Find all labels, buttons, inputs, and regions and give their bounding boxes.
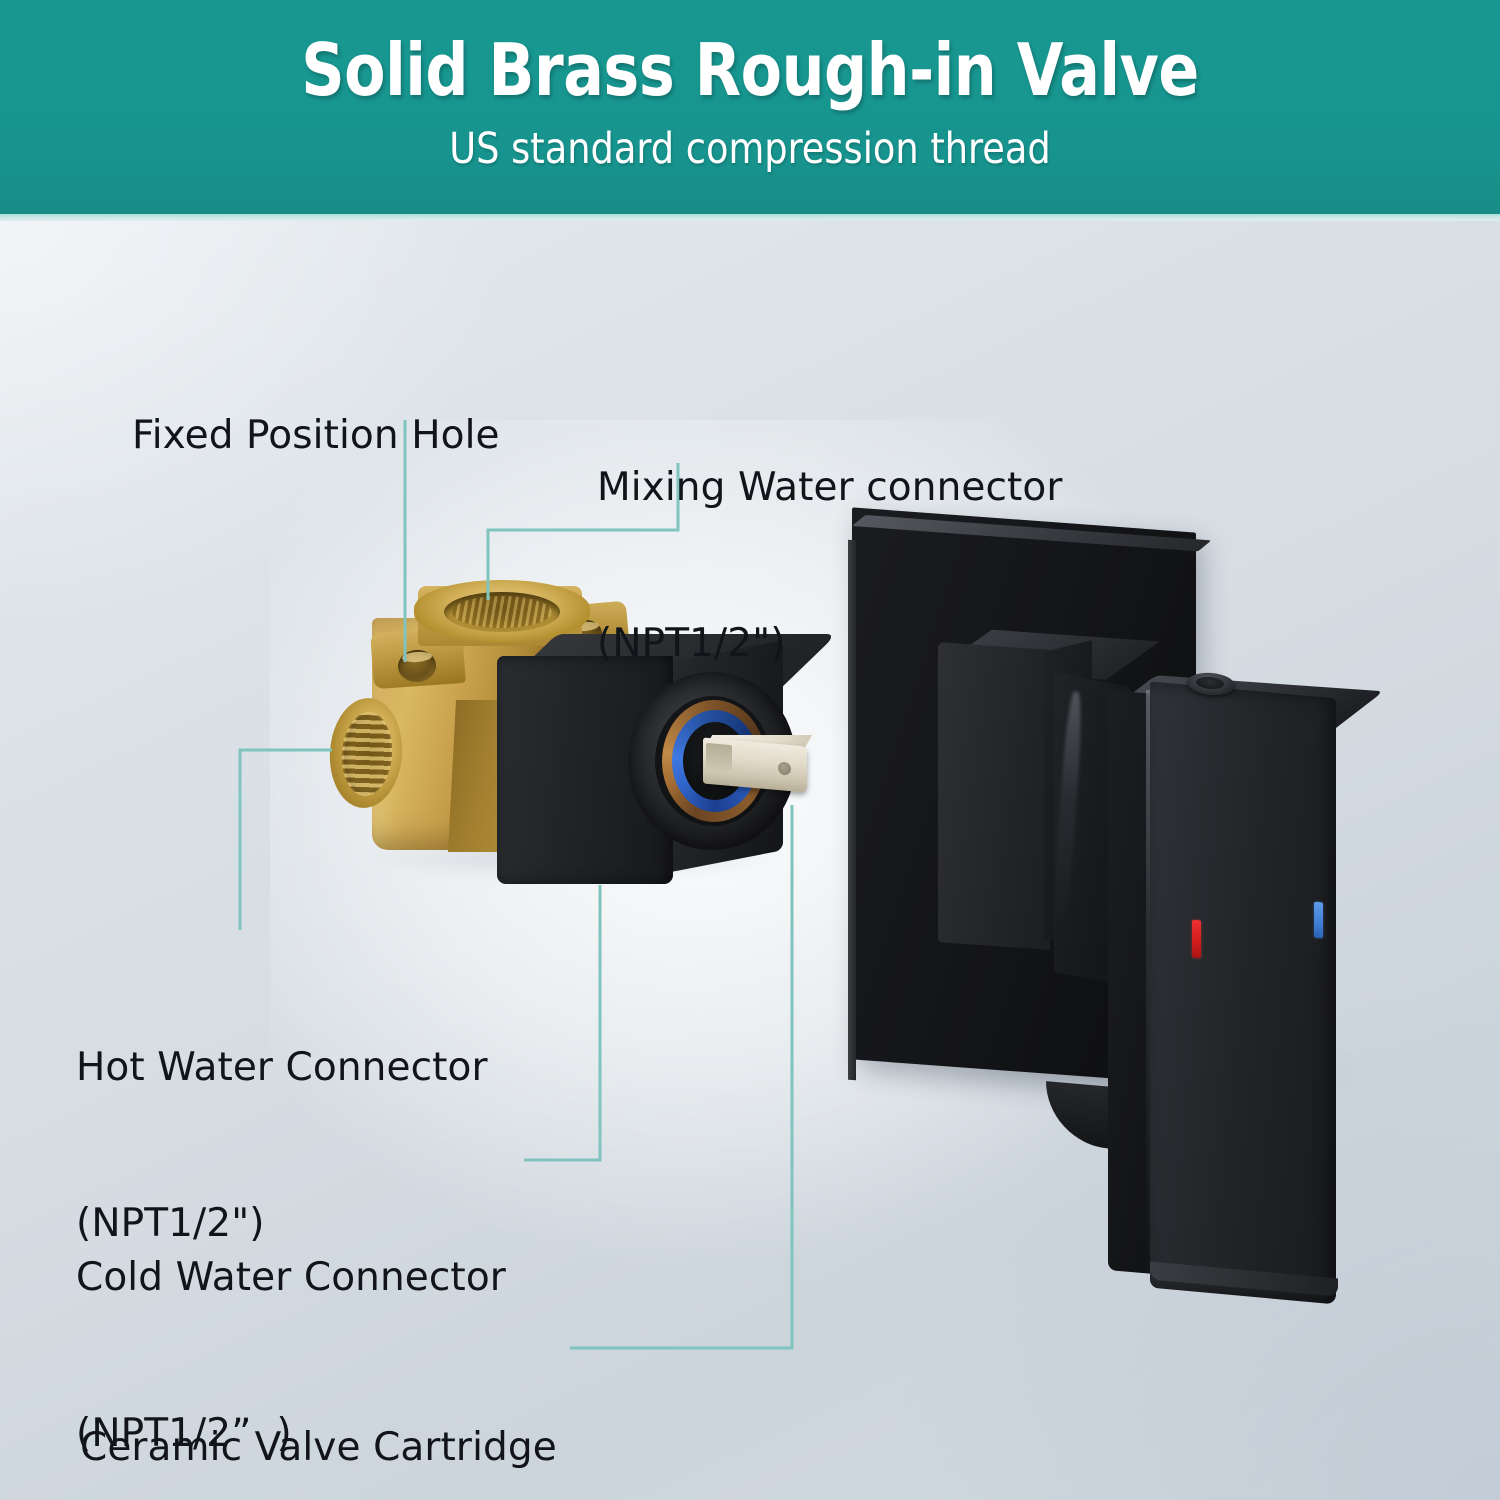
callout-line: (NPT1/2") [597, 618, 1063, 670]
handle-lever-edge-highlight [1146, 690, 1150, 1290]
callout-ceramic-valve-cartridge: Ceramic Valve Cartridge Long Service Lif… [80, 1318, 557, 1500]
hot-indicator-marker [1192, 920, 1201, 959]
product-infographic: Solid Brass Rough-in Valve US standard c… [0, 0, 1500, 1500]
callout-line: Mixing Water connector [597, 462, 1063, 514]
cold-indicator-marker [1314, 902, 1323, 939]
callout-line: Ceramic Valve Cartridge [80, 1422, 557, 1474]
callout-line: Cold Water Connector [76, 1252, 506, 1304]
handle-lever-front [1150, 682, 1336, 1305]
callout-mixing-water-connector: Mixing Water connector (NPT1/2") [597, 358, 1063, 774]
callout-line: Hot Water Connector [76, 1042, 488, 1094]
callout-fixed-position-hole: Fixed Position Hole [82, 358, 500, 514]
callout-line: Fixed Position Hole [132, 413, 500, 458]
